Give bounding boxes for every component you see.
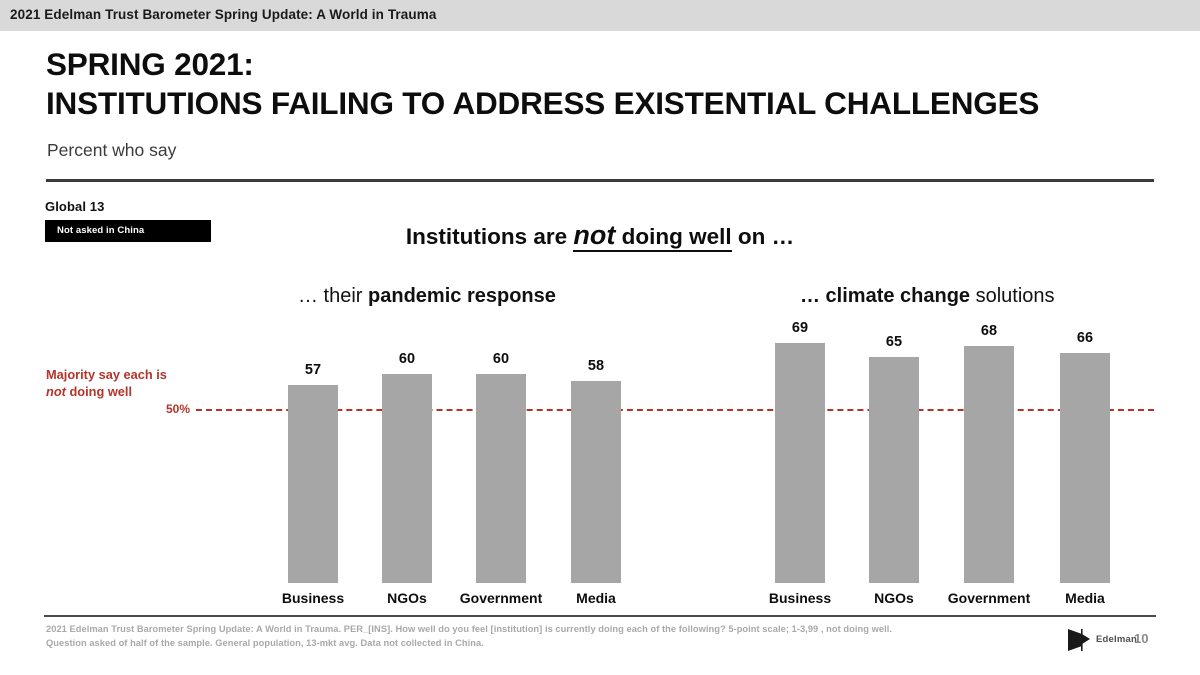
bar-pandemic-media — [571, 381, 621, 583]
footnote-line-2: Question asked of half of the sample. Ge… — [46, 637, 1046, 651]
footer-divider — [44, 615, 1156, 617]
slide: 2021 Edelman Trust Barometer Spring Upda… — [0, 0, 1200, 675]
bar-value-climate-media: 66 — [1055, 330, 1115, 346]
brand-name: Edelman — [1096, 634, 1137, 645]
footnote: 2021 Edelman Trust Barometer Spring Upda… — [46, 623, 1046, 650]
bar-value-pandemic-media: 58 — [566, 358, 626, 374]
bar-climate-business — [775, 343, 825, 583]
bar-climate-media — [1060, 353, 1110, 583]
bar-value-pandemic-ngos: 60 — [377, 351, 437, 367]
bar-climate-government — [964, 346, 1014, 583]
bar-pandemic-business — [288, 385, 338, 583]
brand-logo: Edelman 10 — [1066, 626, 1186, 656]
bar-value-pandemic-business: 57 — [283, 362, 343, 378]
category-label-pandemic-media: Media — [536, 590, 656, 606]
footnote-line-1: 2021 Edelman Trust Barometer Spring Upda… — [46, 623, 1046, 637]
bar-value-climate-government: 68 — [959, 323, 1019, 339]
bar-chart-plot-area: 57Business60NGOs60Government58Media69Bus… — [0, 0, 1200, 675]
bar-climate-ngos — [869, 357, 919, 583]
edelman-flag-icon — [1066, 626, 1092, 657]
bar-value-climate-business: 69 — [770, 320, 830, 336]
bar-value-climate-ngos: 65 — [864, 334, 924, 350]
bar-pandemic-ngos — [382, 374, 432, 583]
page-number: 10 — [1134, 631, 1148, 646]
bar-pandemic-government — [476, 374, 526, 583]
category-label-climate-media: Media — [1025, 590, 1145, 606]
bar-value-pandemic-government: 60 — [471, 351, 531, 367]
